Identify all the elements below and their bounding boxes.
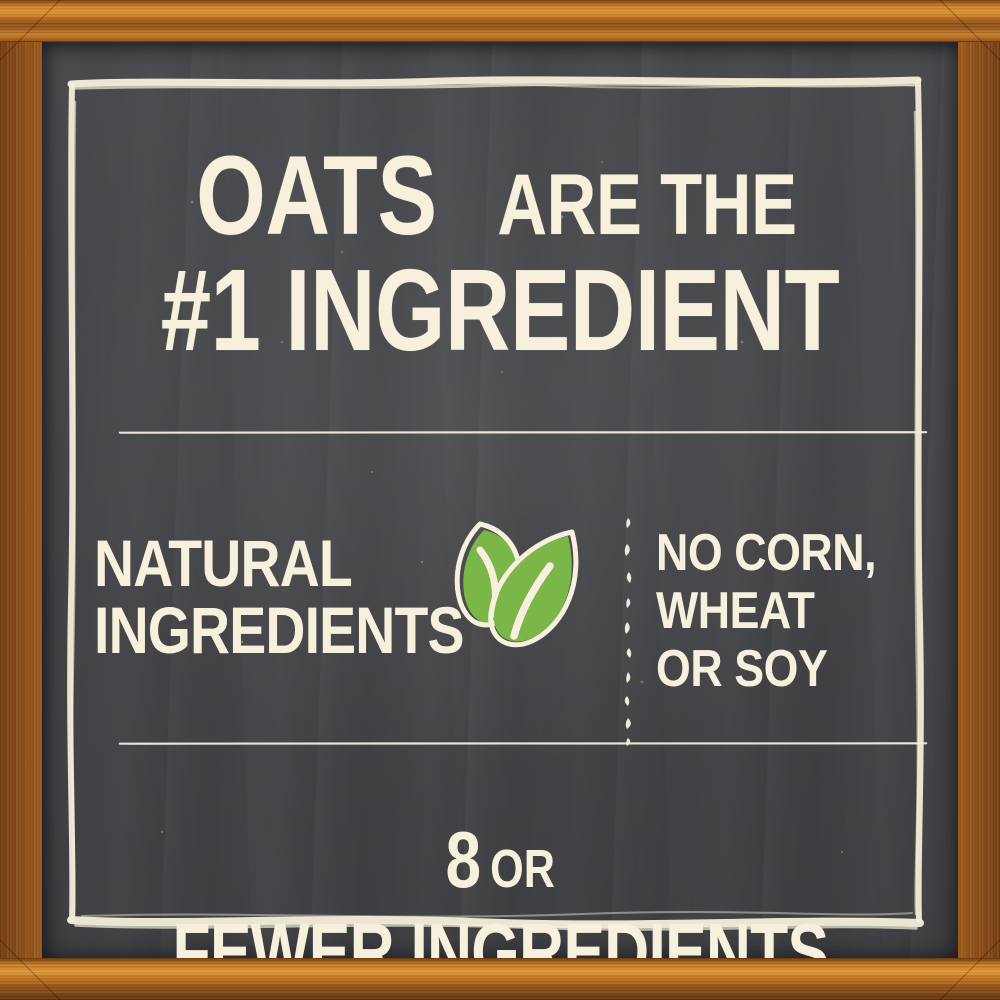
natural-line-2: INGREDIENTS	[94, 597, 464, 664]
fewer-ingredients-block: 8ORFEWER INGREDIENTS	[42, 814, 958, 958]
right-line-1: NO CORN,	[656, 524, 876, 582]
middle-section: NATURAL INGREDIENTS	[42, 512, 958, 752]
headline-line-1: OATSARE THE	[42, 140, 958, 248]
divider-line-top	[118, 430, 928, 435]
bottom-connector: OR	[490, 838, 555, 900]
bottom-number: 8	[446, 814, 482, 906]
bottom-rest: FEWER INGREDIENTS	[172, 906, 828, 958]
dotted-vertical-divider	[622, 516, 636, 746]
no-corn-wheat-soy-block: NO CORN, WHEAT OR SOY	[656, 524, 912, 699]
natural-line-1: NATURAL	[94, 530, 464, 597]
wood-frame-bottom	[0, 958, 1000, 1000]
headline-are-the: ARE THE	[498, 162, 797, 248]
headline-line-2: #1 INGREDIENT	[42, 252, 958, 364]
chalkboard-sign: OATSARE THE #1 INGREDIENT NATURAL INGRED…	[0, 0, 1000, 1000]
headline-number-one-ingredient: #1 INGREDIENT	[161, 252, 840, 368]
wood-frame-top	[0, 0, 1000, 42]
leaves-icon	[440, 510, 600, 660]
chalkboard-surface: OATSARE THE #1 INGREDIENT NATURAL INGRED…	[42, 42, 958, 958]
headline-oats: OATS	[196, 140, 437, 252]
right-line-2: WHEAT	[656, 582, 876, 640]
page-title: OATSARE THE #1 INGREDIENT	[42, 140, 958, 364]
right-line-3: OR SOY	[656, 640, 876, 698]
